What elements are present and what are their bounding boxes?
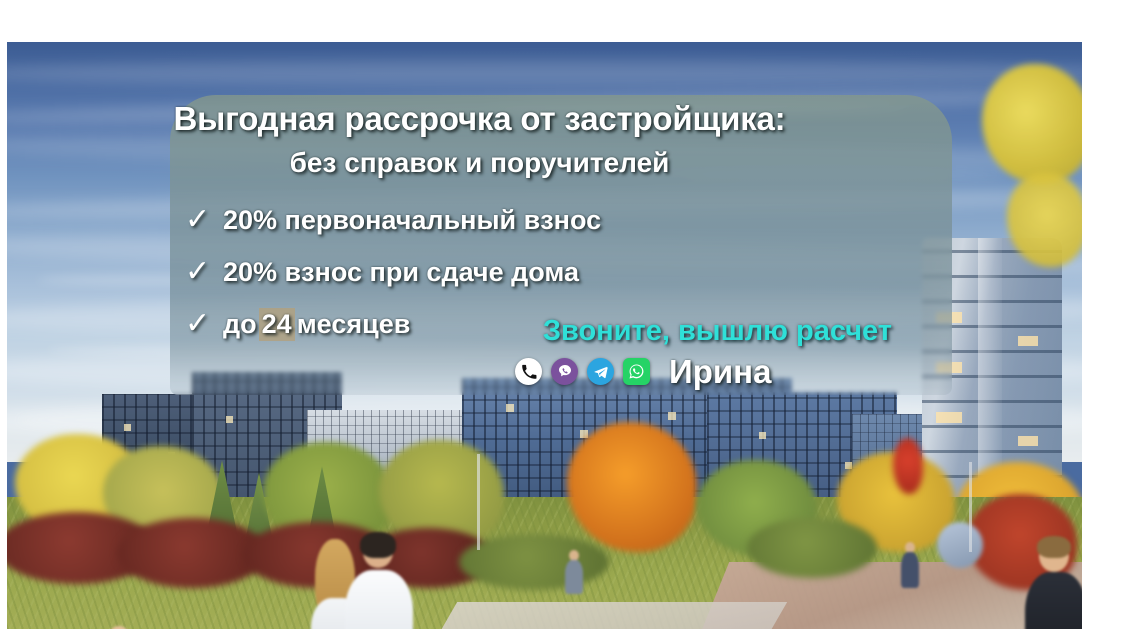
- phone-icon[interactable]: [515, 358, 542, 385]
- subheadline: без справок и поручителей: [7, 147, 952, 179]
- advertisement-banner: Выгодная рассрочка от застройщика: без с…: [0, 0, 1122, 629]
- viber-icon[interactable]: [551, 358, 578, 385]
- contact-name: Ирина: [669, 355, 771, 388]
- background-photo: Выгодная рассрочка от застройщика: без с…: [7, 42, 1082, 629]
- copy-layer: Выгодная рассрочка от застройщика: без с…: [7, 42, 1082, 629]
- telegram-icon[interactable]: [587, 358, 614, 385]
- check-icon: ✓: [185, 205, 223, 235]
- list-item-label: 20% взнос при сдаче дома: [223, 257, 579, 288]
- call-to-action-text: Звоните, вышлю расчет: [7, 315, 892, 348]
- list-item: ✓ 20% взнос при сдаче дома: [185, 246, 825, 298]
- contact-row: Ирина: [515, 355, 771, 388]
- list-item: ✓ 20% первоначальный взнос: [185, 194, 825, 246]
- check-icon: ✓: [185, 257, 223, 287]
- headline: Выгодная рассрочка от застройщика:: [7, 100, 952, 138]
- list-item-label: 20% первоначальный взнос: [223, 205, 601, 236]
- whatsapp-icon[interactable]: [623, 358, 650, 385]
